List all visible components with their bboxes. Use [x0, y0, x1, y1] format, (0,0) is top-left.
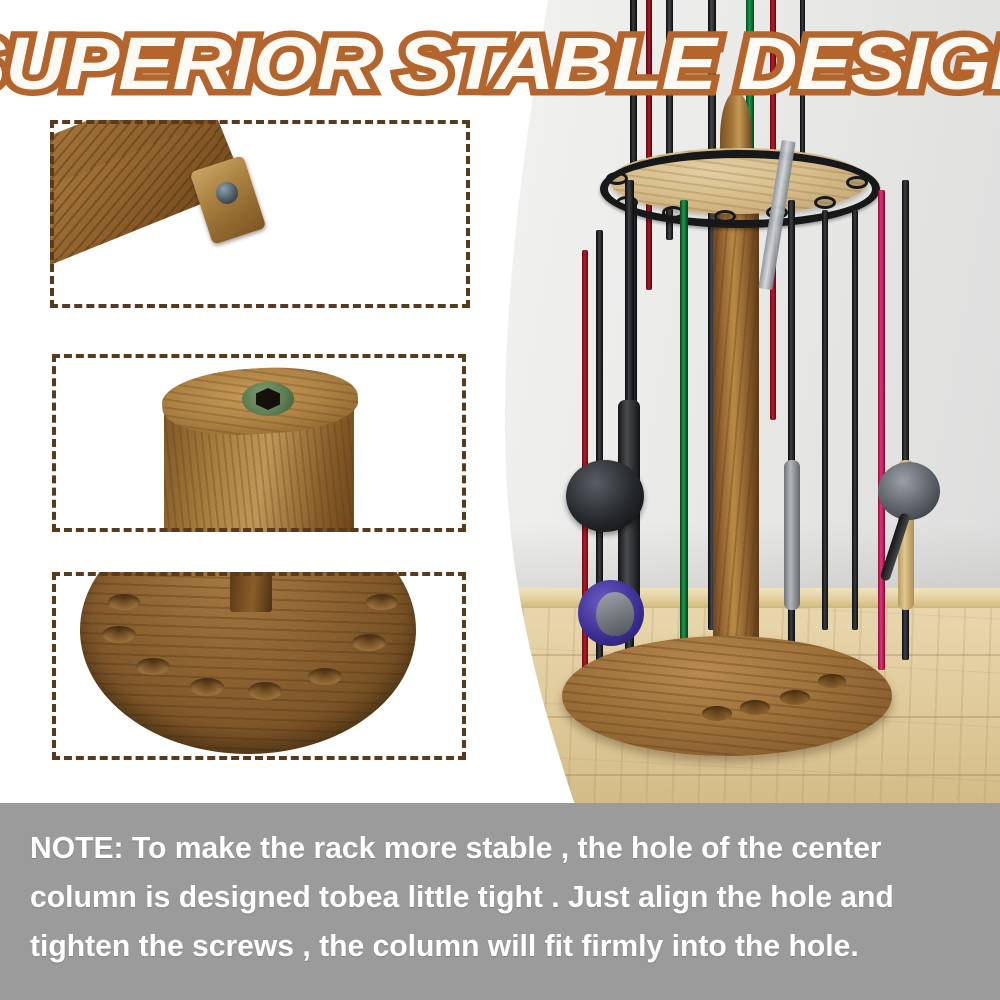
- baitcast-reel: [566, 460, 644, 532]
- rod-clip: [846, 176, 868, 189]
- inset-round-base-holes: [52, 572, 466, 760]
- inset-dashed-frame: [50, 120, 470, 308]
- rod-holder-ring: [600, 150, 880, 228]
- rack-base-disc: [562, 636, 892, 756]
- rod-shaft: [852, 210, 858, 630]
- rod-shaft: [680, 200, 688, 700]
- note-text: NOTE: To make the rack more stable , the…: [30, 823, 942, 970]
- base-rod-hole: [818, 674, 846, 688]
- rod-clip: [714, 210, 736, 223]
- fly-reel-spool: [596, 592, 634, 636]
- banner-title-wrap: SUPERIOR STABLE DESIGN: [0, 20, 1000, 108]
- spinning-reel: [878, 462, 940, 520]
- base-rod-hole: [780, 690, 810, 705]
- page-title: SUPERIOR STABLE DESIGN: [0, 20, 1000, 108]
- inset-dashed-frame: [52, 572, 466, 760]
- rod-grip: [784, 460, 800, 610]
- base-rod-hole: [702, 706, 732, 721]
- note-band: NOTE: To make the rack more stable , the…: [0, 803, 1000, 1000]
- inset-dashed-frame: [52, 354, 466, 532]
- rod-shaft: [822, 210, 828, 630]
- rod-shaft: [878, 190, 885, 670]
- rod-clip: [814, 196, 836, 209]
- product-marketing-image: SUPERIOR STABLE DESIGN: [0, 0, 1000, 1000]
- base-rod-hole: [740, 700, 770, 715]
- inset-wood-joint-detail: [50, 120, 470, 308]
- product-photo: [470, 0, 1000, 805]
- inset-column-end-insert: [52, 354, 466, 532]
